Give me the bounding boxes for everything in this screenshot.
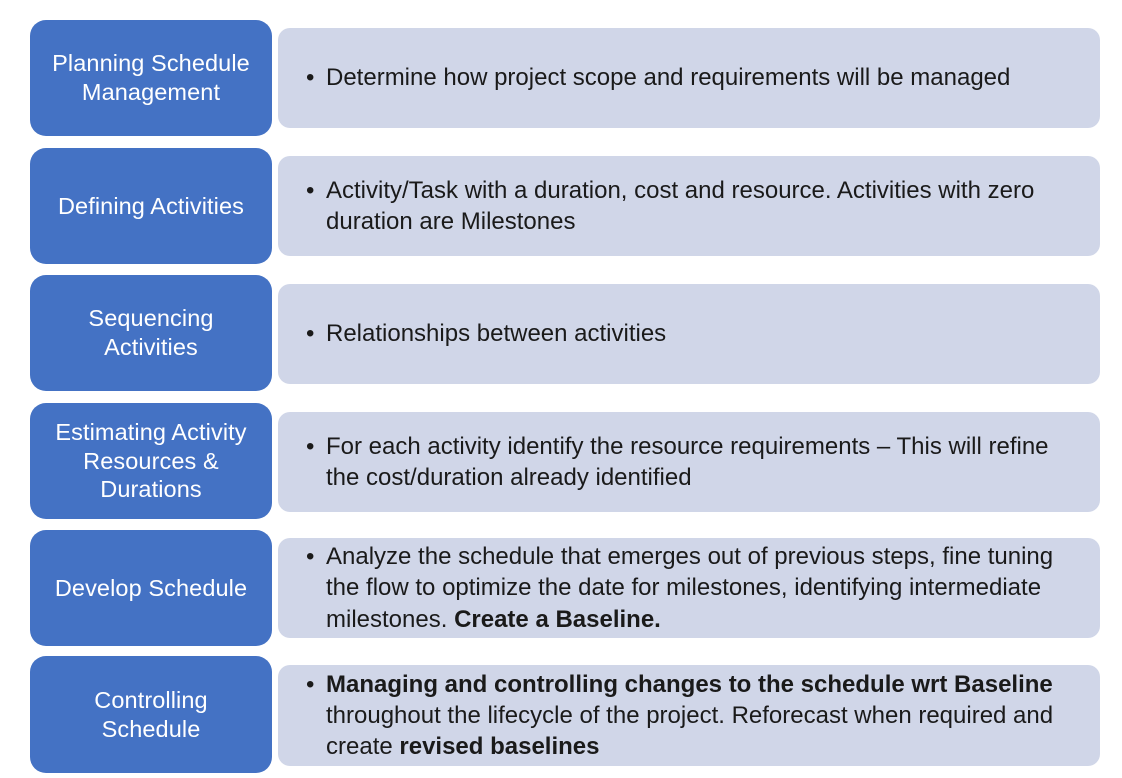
body-text-emphasis: Managing and controlling changes to the … [326, 671, 1053, 698]
bullet-point-icon: • [306, 541, 314, 572]
step-label-box-6[interactable]: Controlling Schedule [30, 656, 272, 773]
bullet-point-icon: • [306, 62, 314, 93]
step-label-text: Planning Schedule Management [52, 49, 250, 106]
step-description-panel-6[interactable]: •Managing and controlling changes to the… [278, 665, 1100, 766]
step-description-panel-4[interactable]: •For each activity identify the resource… [278, 412, 1100, 512]
bullet-item: •Managing and controlling changes to the… [306, 669, 1074, 763]
step-label-box-3[interactable]: Sequencing Activities [30, 275, 272, 391]
step-label-box-1[interactable]: Planning Schedule Management [30, 20, 272, 136]
step-label-text: Controlling Schedule [94, 686, 207, 743]
body-text-segment: Activity/Task with a duration, cost and … [326, 177, 1034, 235]
step-description-panel-5[interactable]: •Analyze the schedule that emerges out o… [278, 538, 1100, 638]
bullet-item: •Activity/Task with a duration, cost and… [306, 175, 1074, 237]
step-label-text: Estimating Activity Resources & Duration… [55, 418, 246, 504]
bullet-point-icon: • [306, 669, 314, 700]
step-label-box-5[interactable]: Develop Schedule [30, 530, 272, 646]
process-diagram: Planning Schedule Management•Determine h… [0, 0, 1122, 778]
body-text-emphasis: revised baselines [399, 733, 599, 760]
body-text-emphasis: Create a Baseline. [454, 606, 661, 633]
body-text-segment: Relationships between activities [326, 320, 666, 347]
step-label-text: Develop Schedule [55, 574, 247, 603]
bullet-point-icon: • [306, 431, 314, 462]
step-description-panel-3[interactable]: •Relationships between activities [278, 284, 1100, 384]
bullet-item: •Determine how project scope and require… [306, 62, 1074, 93]
body-text-segment: For each activity identify the resource … [326, 433, 1049, 491]
step-label-text: Sequencing Activities [88, 304, 213, 361]
step-label-box-4[interactable]: Estimating Activity Resources & Duration… [30, 403, 272, 519]
step-label-box-2[interactable]: Defining Activities [30, 148, 272, 264]
step-description-panel-1[interactable]: •Determine how project scope and require… [278, 28, 1100, 128]
bullet-item: •Analyze the schedule that emerges out o… [306, 541, 1074, 635]
body-text-segment: Analyze the schedule that emerges out of… [326, 543, 1053, 632]
step-label-text: Defining Activities [58, 192, 244, 221]
bullet-item: •Relationships between activities [306, 318, 1074, 349]
step-description-panel-2[interactable]: •Activity/Task with a duration, cost and… [278, 156, 1100, 256]
body-text-segment: Determine how project scope and requirem… [326, 64, 1010, 91]
bullet-point-icon: • [306, 175, 314, 206]
bullet-item: •For each activity identify the resource… [306, 431, 1074, 493]
bullet-point-icon: • [306, 318, 314, 349]
